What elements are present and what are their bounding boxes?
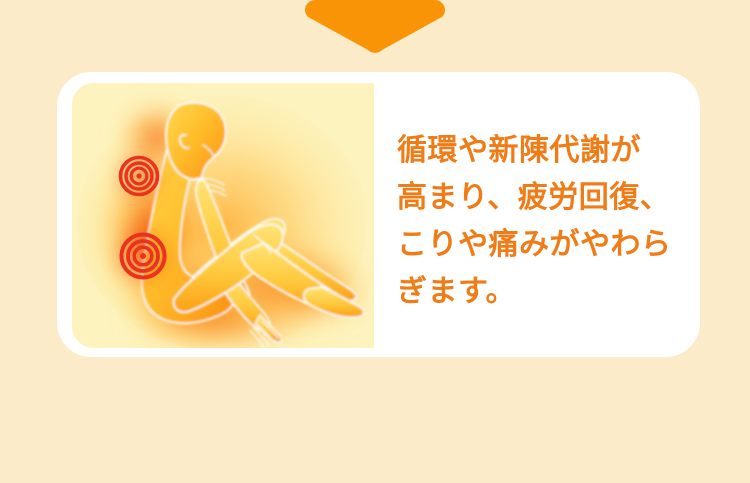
description-line-4: ぎます。 — [397, 268, 687, 315]
page-root: 循環や新陳代謝が 高まり、疲労回復、 こりや痛みがやわら ぎます。 — [0, 0, 750, 483]
shoulder-pain-marker — [118, 155, 160, 197]
illustration-panel — [72, 83, 374, 348]
lower-back-pain-marker — [118, 231, 168, 281]
description-line-3: こりや痛みがやわら — [397, 221, 687, 268]
human-figure-illustration — [72, 83, 374, 348]
content-card: 循環や新陳代謝が 高まり、疲労回復、 こりや痛みがやわら ぎます。 — [57, 72, 700, 357]
down-arrow-icon — [303, 0, 447, 56]
description-line-1: 循環や新陳代謝が — [397, 127, 687, 174]
arrow-shape — [305, 0, 445, 53]
description-text: 循環や新陳代謝が 高まり、疲労回復、 こりや痛みがやわら ぎます。 — [397, 127, 687, 315]
description-line-2: 高まり、疲労回復、 — [397, 174, 687, 221]
